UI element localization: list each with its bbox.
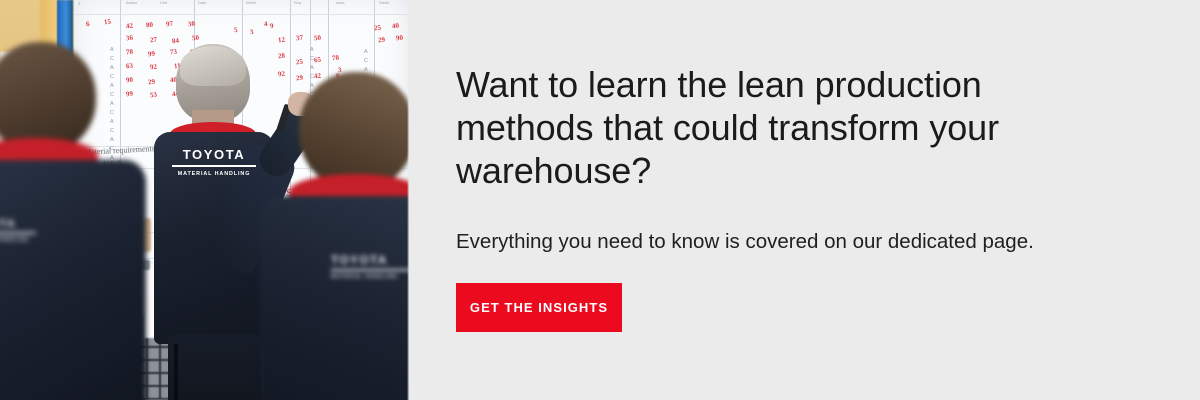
jacket-logo-rule-left [0,232,36,234]
get-the-insights-button[interactable]: GET THE INSIGHTS [456,283,622,332]
jacket-brand-text-right: TOYOTA [331,254,409,267]
jacket-division-text-left: MATERIAL HANDLING [0,237,36,243]
photo-right-edge [407,0,409,400]
jacket-brand-text-left: TOYOTA [0,218,36,230]
banner-subheading: Everything you need to know is covered o… [456,229,1116,255]
jacket-logo-left: TOYOTA MATERIAL HANDLING [0,218,36,243]
promo-banner: 3 Action Unit Date Week Seq Area Week 6 … [0,0,1200,400]
banner-photo: 3 Action Unit Date Week Seq Area Week 6 … [0,0,409,400]
person-foreground-right: TOYOTA MATERIAL HANDLING [253,72,409,400]
jacket-division-text-right: MATERIAL HANDLING [331,274,409,280]
person-foreground-left: TOYOTA MATERIAL HANDLING [0,42,156,400]
banner-content: Want to learn the lean production method… [409,0,1200,400]
jacket-logo-right: TOYOTA MATERIAL HANDLING [331,254,409,280]
jacket-logo-rule-right [331,269,409,271]
banner-headline: Want to learn the lean production method… [456,63,1116,192]
